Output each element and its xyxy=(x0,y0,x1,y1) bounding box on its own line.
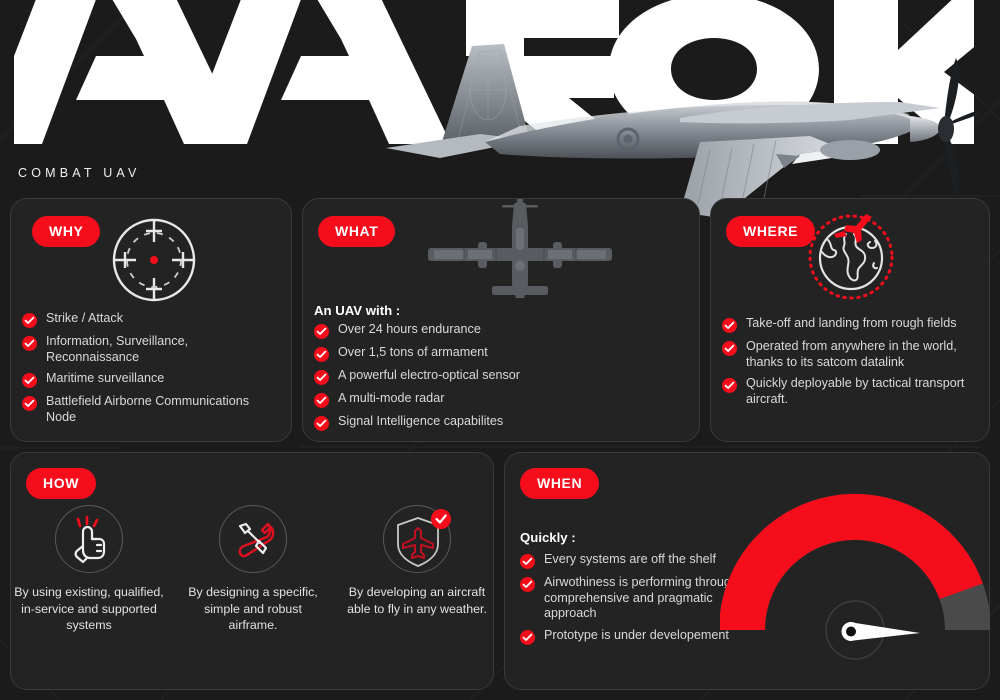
list-item-label: Signal Intelligence capabilites xyxy=(338,414,503,430)
list-item-label: A multi-mode radar xyxy=(338,391,444,407)
check-icon xyxy=(314,416,329,431)
shield-plane-check-icon xyxy=(383,505,451,573)
list-item: Battlefield Airborne Communications Node xyxy=(22,394,274,425)
how-column-label: By developing an aircraft able to fly in… xyxy=(342,584,492,617)
subtitle: COMBAT UAV xyxy=(18,166,141,180)
list-item: A multi-mode radar xyxy=(314,391,574,408)
list-item-label: Strike / Attack xyxy=(46,311,123,327)
list-item-label: Over 1,5 tons of armament xyxy=(338,345,488,361)
list-item: Over 1,5 tons of armament xyxy=(314,345,574,362)
list-item: Maritime surveillance xyxy=(22,371,274,388)
check-icon xyxy=(22,396,37,411)
what-lead-text: An UAV with : xyxy=(314,303,400,318)
check-icon xyxy=(22,313,37,328)
list-item-label: Battlefield Airborne Communications Node xyxy=(46,394,274,425)
how-column-label: By using existing, qualified, in-service… xyxy=(14,584,164,634)
pill-when: WHEN xyxy=(520,468,599,499)
globe-with-plane-icon xyxy=(802,206,900,300)
pill-why: WHY xyxy=(32,216,100,247)
how-column-1: By using existing, qualified, in-service… xyxy=(14,505,164,634)
check-icon xyxy=(314,324,329,339)
header: COMBAT UAV xyxy=(0,0,1000,200)
when-lead-text: Quickly : xyxy=(520,530,576,545)
check-icon xyxy=(722,341,737,356)
check-icon xyxy=(22,336,37,351)
check-icon xyxy=(314,393,329,408)
list-item-label: Information, Surveillance, Reconnaissanc… xyxy=(46,334,274,365)
uav-top-view-icon xyxy=(420,198,620,308)
list-item: Operated from anywhere in the world, tha… xyxy=(722,339,980,370)
list-item-label: Every systems are off the shelf xyxy=(544,552,716,568)
check-icon xyxy=(22,373,37,388)
list-item: Take-off and landing from rough fields xyxy=(722,316,980,333)
when-bullet-list: Every systems are off the shelf Airwothi… xyxy=(520,552,750,651)
wrench-screwdriver-icon xyxy=(219,505,287,573)
list-item-label: Over 24 hours endurance xyxy=(338,322,481,338)
list-item-label: Maritime surveillance xyxy=(46,371,164,387)
list-item: Airwothiness is performing through a com… xyxy=(520,575,750,622)
list-item-label: Prototype is under developement xyxy=(544,628,729,644)
list-item: A powerful electro-optical sensor xyxy=(314,368,574,385)
pill-what: WHAT xyxy=(318,216,395,247)
list-item: Every systems are off the shelf xyxy=(520,552,750,569)
list-item-label: Quickly deployable by tactical transport… xyxy=(746,376,980,407)
how-column-3: By developing an aircraft able to fly in… xyxy=(342,505,492,617)
check-icon xyxy=(314,370,329,385)
list-item: Prototype is under developement xyxy=(520,628,750,645)
crosshair-reticle-icon xyxy=(108,214,200,306)
list-item-label: Operated from anywhere in the world, tha… xyxy=(746,339,980,370)
where-bullet-list: Take-off and landing from rough fields O… xyxy=(722,316,980,413)
list-item: Information, Surveillance, Reconnaissanc… xyxy=(22,334,274,365)
list-item-label: Take-off and landing from rough fields xyxy=(746,316,957,332)
check-icon xyxy=(520,577,535,592)
how-column-2: By designing a specific, simple and robu… xyxy=(178,505,328,634)
speedometer-gauge-icon xyxy=(720,490,990,665)
list-item: Over 24 hours endurance xyxy=(314,322,574,339)
infographic-page: COMBAT UAV xyxy=(0,0,1000,700)
check-icon xyxy=(722,318,737,333)
check-icon xyxy=(520,554,535,569)
check-icon xyxy=(520,630,535,645)
list-item: Signal Intelligence capabilites xyxy=(314,414,574,431)
pointing-hand-icon xyxy=(55,505,123,573)
why-bullet-list: Strike / Attack Information, Surveillanc… xyxy=(22,311,274,431)
list-item: Quickly deployable by tactical transport… xyxy=(722,376,980,407)
what-bullet-list: Over 24 hours endurance Over 1,5 tons of… xyxy=(314,322,574,437)
list-item-label: A powerful electro-optical sensor xyxy=(338,368,520,384)
how-column-label: By designing a specific, simple and robu… xyxy=(178,584,328,634)
list-item: Strike / Attack xyxy=(22,311,274,328)
pill-how: HOW xyxy=(26,468,96,499)
check-icon xyxy=(722,378,737,393)
check-icon xyxy=(314,347,329,362)
hero-uav-side-view xyxy=(380,22,980,222)
